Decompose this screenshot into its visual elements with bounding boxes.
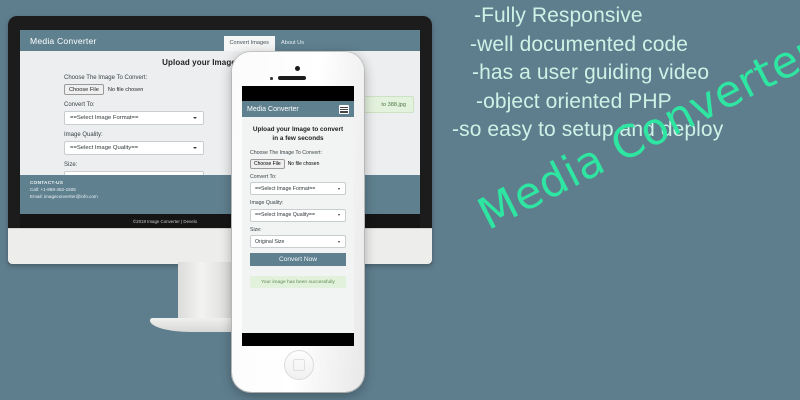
mobile-label-image-quality: Image Quality:: [250, 200, 346, 206]
choose-file-button[interactable]: Choose File: [64, 84, 104, 95]
phone-screen: Media Converter Upload your Image to con…: [242, 86, 354, 346]
mobile-file-status-text: No file chosen: [288, 161, 320, 167]
tab-convert-images[interactable]: Convert Images: [224, 36, 275, 51]
footer-email: Email: imageconverter@info.com: [30, 194, 98, 199]
mobile-choose-file-button[interactable]: Choose File: [250, 159, 285, 169]
mobile-file-input[interactable]: Choose File No file chosen: [250, 159, 346, 169]
mobile-form: Choose The Image To Convert: Choose File…: [242, 148, 354, 288]
monitor-chin: [8, 228, 432, 264]
home-button-icon[interactable]: [284, 350, 314, 380]
mobile-page-heading: Upload your Image to convert in a few se…: [242, 117, 354, 148]
promo-banner: Media Converter Convert Images About Us …: [0, 0, 800, 400]
mobile-field-choose-file: Choose The Image To Convert: Choose File…: [250, 150, 346, 169]
hamburger-icon[interactable]: [339, 105, 349, 114]
desktop-logo: Media Converter: [30, 36, 97, 46]
tab-about-us[interactable]: About Us: [275, 36, 310, 51]
footer-contact-title: CONTACT-US: [30, 181, 63, 186]
footer-contact-block: CONTACT-US Call: +1-888-452-1505 Email: …: [30, 180, 98, 214]
mobile-logo: Media Converter: [247, 106, 299, 113]
mobile-field-convert-to: Convert To: ==Select Image Format==: [250, 174, 346, 196]
mobile-label-convert-to: Convert To:: [250, 174, 346, 180]
file-status-text: No file chosen: [108, 87, 143, 93]
feature-item-0: -Fully Responsive: [452, 2, 800, 31]
mobile-select-image-quality[interactable]: ==Select Image Quality==: [250, 209, 346, 222]
earpiece-speaker-icon: [278, 76, 306, 80]
mobile-navbar: Media Converter: [242, 101, 354, 117]
mobile-convert-now-button[interactable]: Convert Now: [250, 253, 346, 266]
front-camera-icon: [295, 66, 300, 71]
file-input[interactable]: Choose File No file chosen: [64, 84, 143, 95]
phone-screen-bottom-bar: [242, 333, 354, 346]
mobile-field-image-quality: Image Quality: ==Select Image Quality==: [250, 200, 346, 222]
desktop-navbar: Media Converter Convert Images About Us: [20, 30, 420, 51]
mobile-label-size: Size:: [250, 227, 346, 233]
mobile-label-choose-file: Choose The Image To Convert:: [250, 150, 346, 156]
footer-phone: Call: +1-888-452-1505: [30, 187, 76, 192]
desktop-monitor-mockup: Media Converter Convert Images About Us …: [8, 16, 432, 264]
desktop-nav-tabs: Convert Images About Us: [224, 30, 311, 51]
mobile-field-size: Size: Original Size: [250, 227, 346, 249]
mobile-phone-mockup: Media Converter Upload your Image to con…: [232, 52, 364, 392]
mobile-select-image-format[interactable]: ==Select Image Format==: [250, 182, 346, 195]
mobile-select-size[interactable]: Original Size: [250, 235, 346, 248]
phone-status-bar: [242, 86, 354, 101]
select-image-format[interactable]: ==Select Image Format==: [64, 111, 204, 125]
proximity-sensor-icon: [270, 77, 273, 80]
mobile-success-alert: Your image has been successfully: [250, 276, 346, 288]
select-image-quality[interactable]: ==Select Image Quality==: [64, 141, 204, 155]
